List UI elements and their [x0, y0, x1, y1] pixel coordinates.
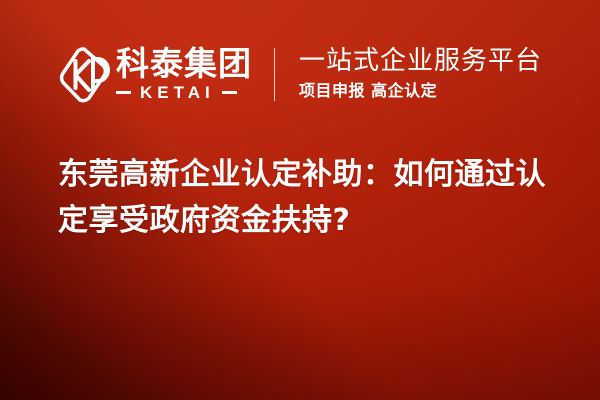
logo-name-en: KETAI — [131, 84, 222, 101]
brand-divider — [274, 48, 275, 101]
tagline-sub: 项目申报 高企认定 — [299, 81, 542, 102]
logo-name-cn: 科泰集团 — [116, 47, 252, 81]
banner-content: 科泰集团 KETAI 一站式企业服务平台 项目申报 高企认定 东莞高新企业认定补… — [0, 0, 600, 400]
ketai-diamond-monogram-logo-icon — [58, 44, 110, 104]
page-title: 东莞高新企业认定补助：如何通过认定享受政府资金扶持? — [58, 152, 564, 244]
logo-rule-right-icon — [222, 91, 237, 94]
logo-name-en-row: KETAI — [116, 84, 252, 101]
brand-lockup: 科泰集团 KETAI 一站式企业服务平台 项目申报 高企认定 — [58, 38, 542, 110]
logo-wordmark: 科泰集团 KETAI — [116, 47, 252, 101]
tagline-block: 一站式企业服务平台 项目申报 高企认定 — [299, 46, 542, 101]
promo-banner: 科泰集团 KETAI 一站式企业服务平台 项目申报 高企认定 东莞高新企业认定补… — [0, 0, 600, 400]
logo-rule-left-icon — [116, 91, 131, 94]
tagline-main: 一站式企业服务平台 — [299, 46, 542, 77]
